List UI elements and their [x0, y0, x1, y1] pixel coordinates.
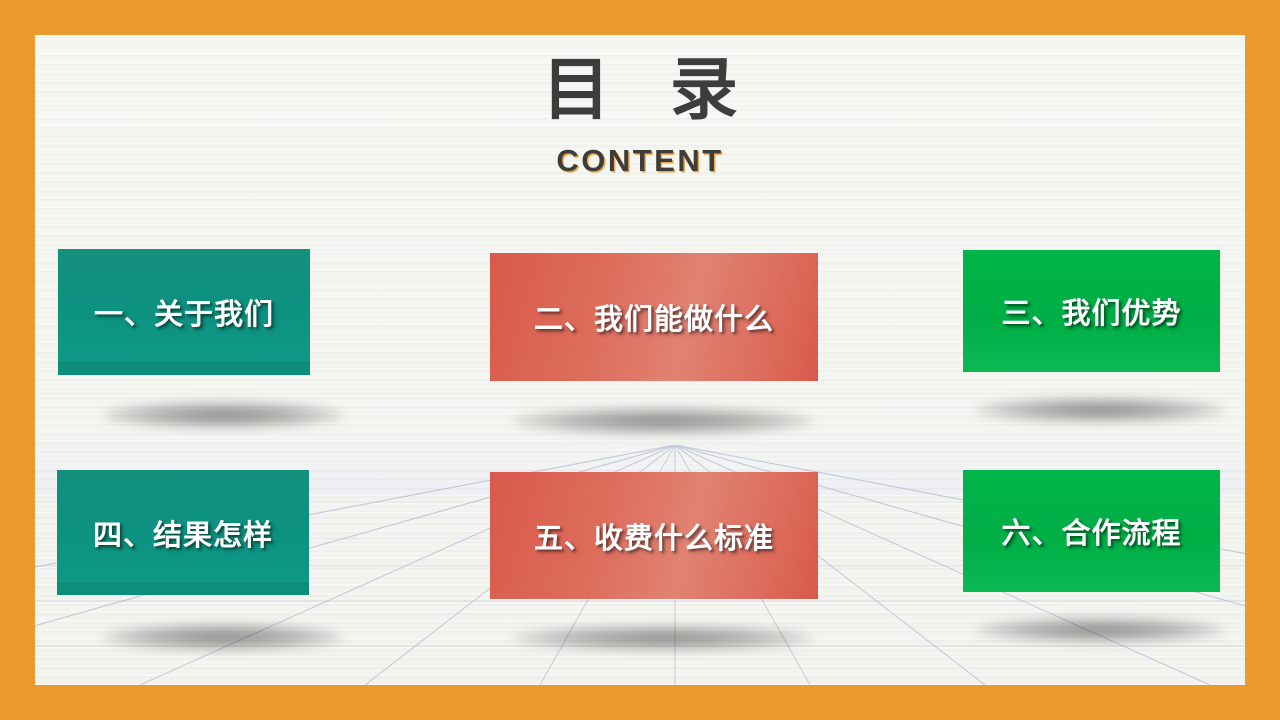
card-shadow: [513, 625, 813, 651]
card-shadow: [513, 407, 813, 435]
toc-card-1[interactable]: 一、关于我们: [58, 249, 310, 375]
card-shadow: [975, 617, 1225, 643]
presentation-slide: 目 录 CONTENT 一、关于我们 二、我们能做什么 三、我们优势 四、结果怎…: [0, 0, 1280, 720]
card-shadow: [103, 401, 343, 429]
toc-card-6-label: 六、合作流程: [963, 510, 1220, 552]
toc-card-4-label: 四、结果怎样: [57, 512, 309, 554]
toc-card-1-label: 一、关于我们: [58, 291, 310, 333]
toc-card-5[interactable]: 五、收费什么标准: [490, 472, 818, 599]
toc-card-2[interactable]: 二、我们能做什么: [490, 253, 818, 381]
card-shadow: [975, 397, 1225, 423]
card-shadow: [103, 623, 343, 651]
toc-card-2-label: 二、我们能做什么: [490, 296, 818, 338]
toc-card-5-label: 五、收费什么标准: [490, 515, 818, 557]
page-title: 目 录: [35, 57, 1245, 125]
toc-card-6[interactable]: 六、合作流程: [963, 470, 1220, 592]
slide-canvas: 目 录 CONTENT 一、关于我们 二、我们能做什么 三、我们优势 四、结果怎…: [35, 35, 1245, 685]
toc-card-3-label: 三、我们优势: [963, 290, 1220, 332]
toc-card-4[interactable]: 四、结果怎样: [57, 470, 309, 595]
page-subtitle: CONTENT: [35, 145, 1245, 176]
toc-card-3[interactable]: 三、我们优势: [963, 250, 1220, 372]
slide-header: 目 录 CONTENT: [35, 57, 1245, 176]
